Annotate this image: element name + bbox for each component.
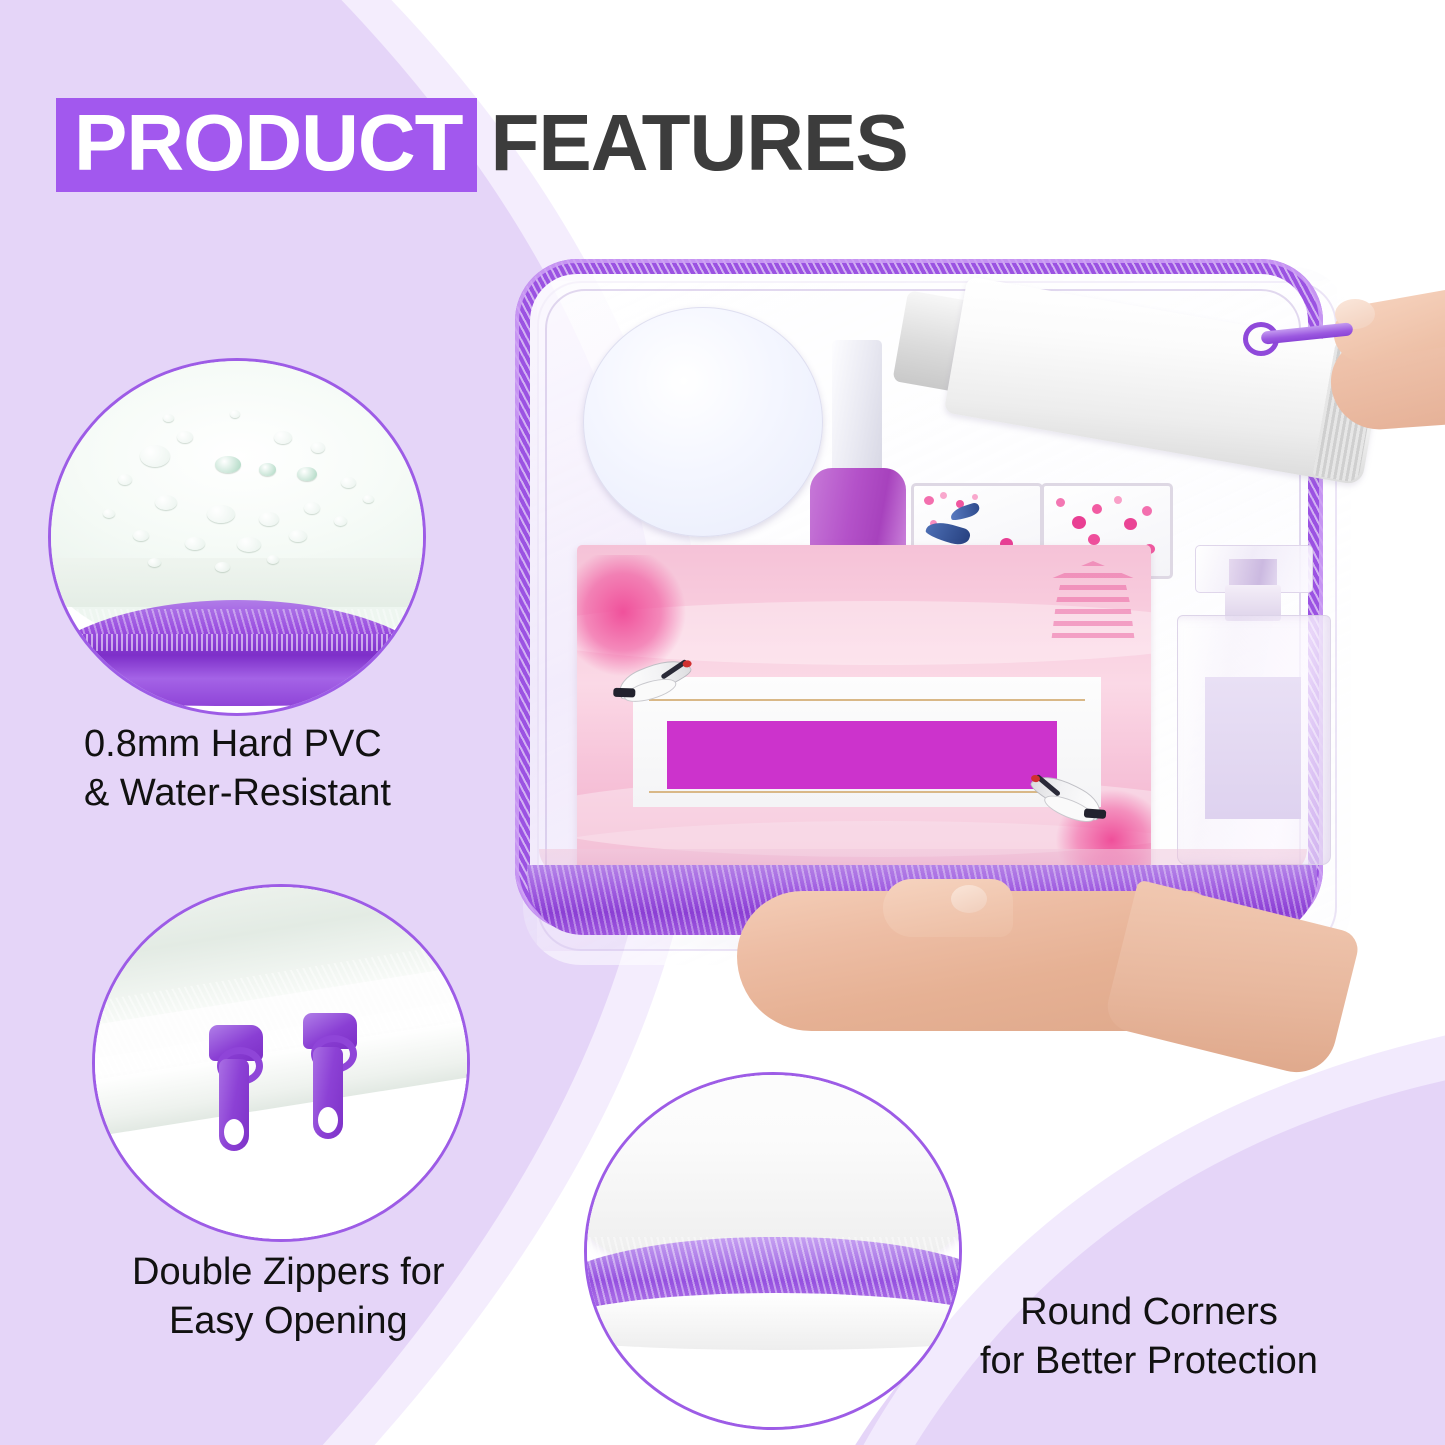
blossom-dot [1142,506,1152,516]
crane-tail [613,688,635,698]
water-droplet [267,555,279,564]
hand-pulling-zipper [1305,265,1445,445]
zipper-pull-right[interactable] [307,1013,353,1141]
water-droplet [215,456,241,473]
feature-detail-pvc [48,358,426,716]
gold-rule [649,699,1085,701]
feature-caption-corners: Round Corners for Better Protection [980,1288,1318,1385]
title-word-product: PRODUCT [74,98,463,187]
page-title: PRODUCT FEATURES [56,98,908,192]
compact-mirror [583,307,823,537]
water-droplet [133,530,149,541]
thumb [883,879,1013,937]
perfume-label [1205,677,1301,819]
thumbnail [951,885,987,913]
title-highlight-box: PRODUCT [56,98,477,192]
gold-rule [649,791,1085,793]
blossom-dot [1072,516,1086,529]
feature-detail-corners [584,1072,962,1430]
redacted-label-bar [667,721,1057,789]
bag-zipper-pull[interactable] [1243,325,1353,345]
water-droplet [334,516,347,526]
pvc-detail-image [51,361,423,713]
water-droplet [103,509,115,518]
blue-bird-motif [949,502,981,523]
blossom-dot [1092,504,1102,514]
water-droplet [118,474,132,485]
water-droplet [289,530,307,542]
zipper-pull-left[interactable] [213,1025,259,1153]
blossom-dot [972,494,978,500]
infographic-canvas: PRODUCT FEATURES [0,0,1445,1445]
corner-detail-image [587,1075,959,1427]
water-droplet [304,502,320,514]
title-plain-box: FEATURES [477,98,908,192]
blossom-dot [1114,496,1122,504]
blossom-dot [1088,534,1100,545]
water-droplet [163,414,174,422]
feature-caption-zippers: Double Zippers for Easy Opening [132,1248,445,1345]
zipper-pull-hole [224,1119,244,1145]
crane-motif [615,661,693,714]
title-word-features: FEATURES [491,98,908,187]
water-droplet [155,495,177,510]
water-droplet [237,537,261,552]
corner-lower-lip [584,1293,962,1349]
hero-product-photo [505,245,1405,1005]
zipper-pull-tab [1261,322,1354,345]
water-droplet [230,410,240,418]
water-droplet [297,467,317,481]
blossom-dot [924,496,934,505]
perfume-bottle [1177,545,1329,863]
zipper-pull-hole [318,1107,338,1133]
zipper-detail-image [95,887,467,1239]
pagoda-motif [1049,561,1137,645]
crane-tail [1084,808,1107,819]
water-droplet [215,562,230,572]
blossom-dot [940,492,947,499]
hand-holding-bag [737,861,1297,1111]
nail-polish-cap [832,340,882,480]
purple-zipper-strip [48,600,426,706]
water-droplet [148,558,161,567]
feature-detail-zippers [92,884,470,1242]
water-droplet [185,537,205,550]
pink-cherry-blossom-box [577,545,1151,875]
blossom-dot [1124,518,1137,530]
feature-caption-pvc: 0.8mm Hard PVC & Water-Resistant [84,720,391,817]
blossom-dot [1056,498,1065,507]
